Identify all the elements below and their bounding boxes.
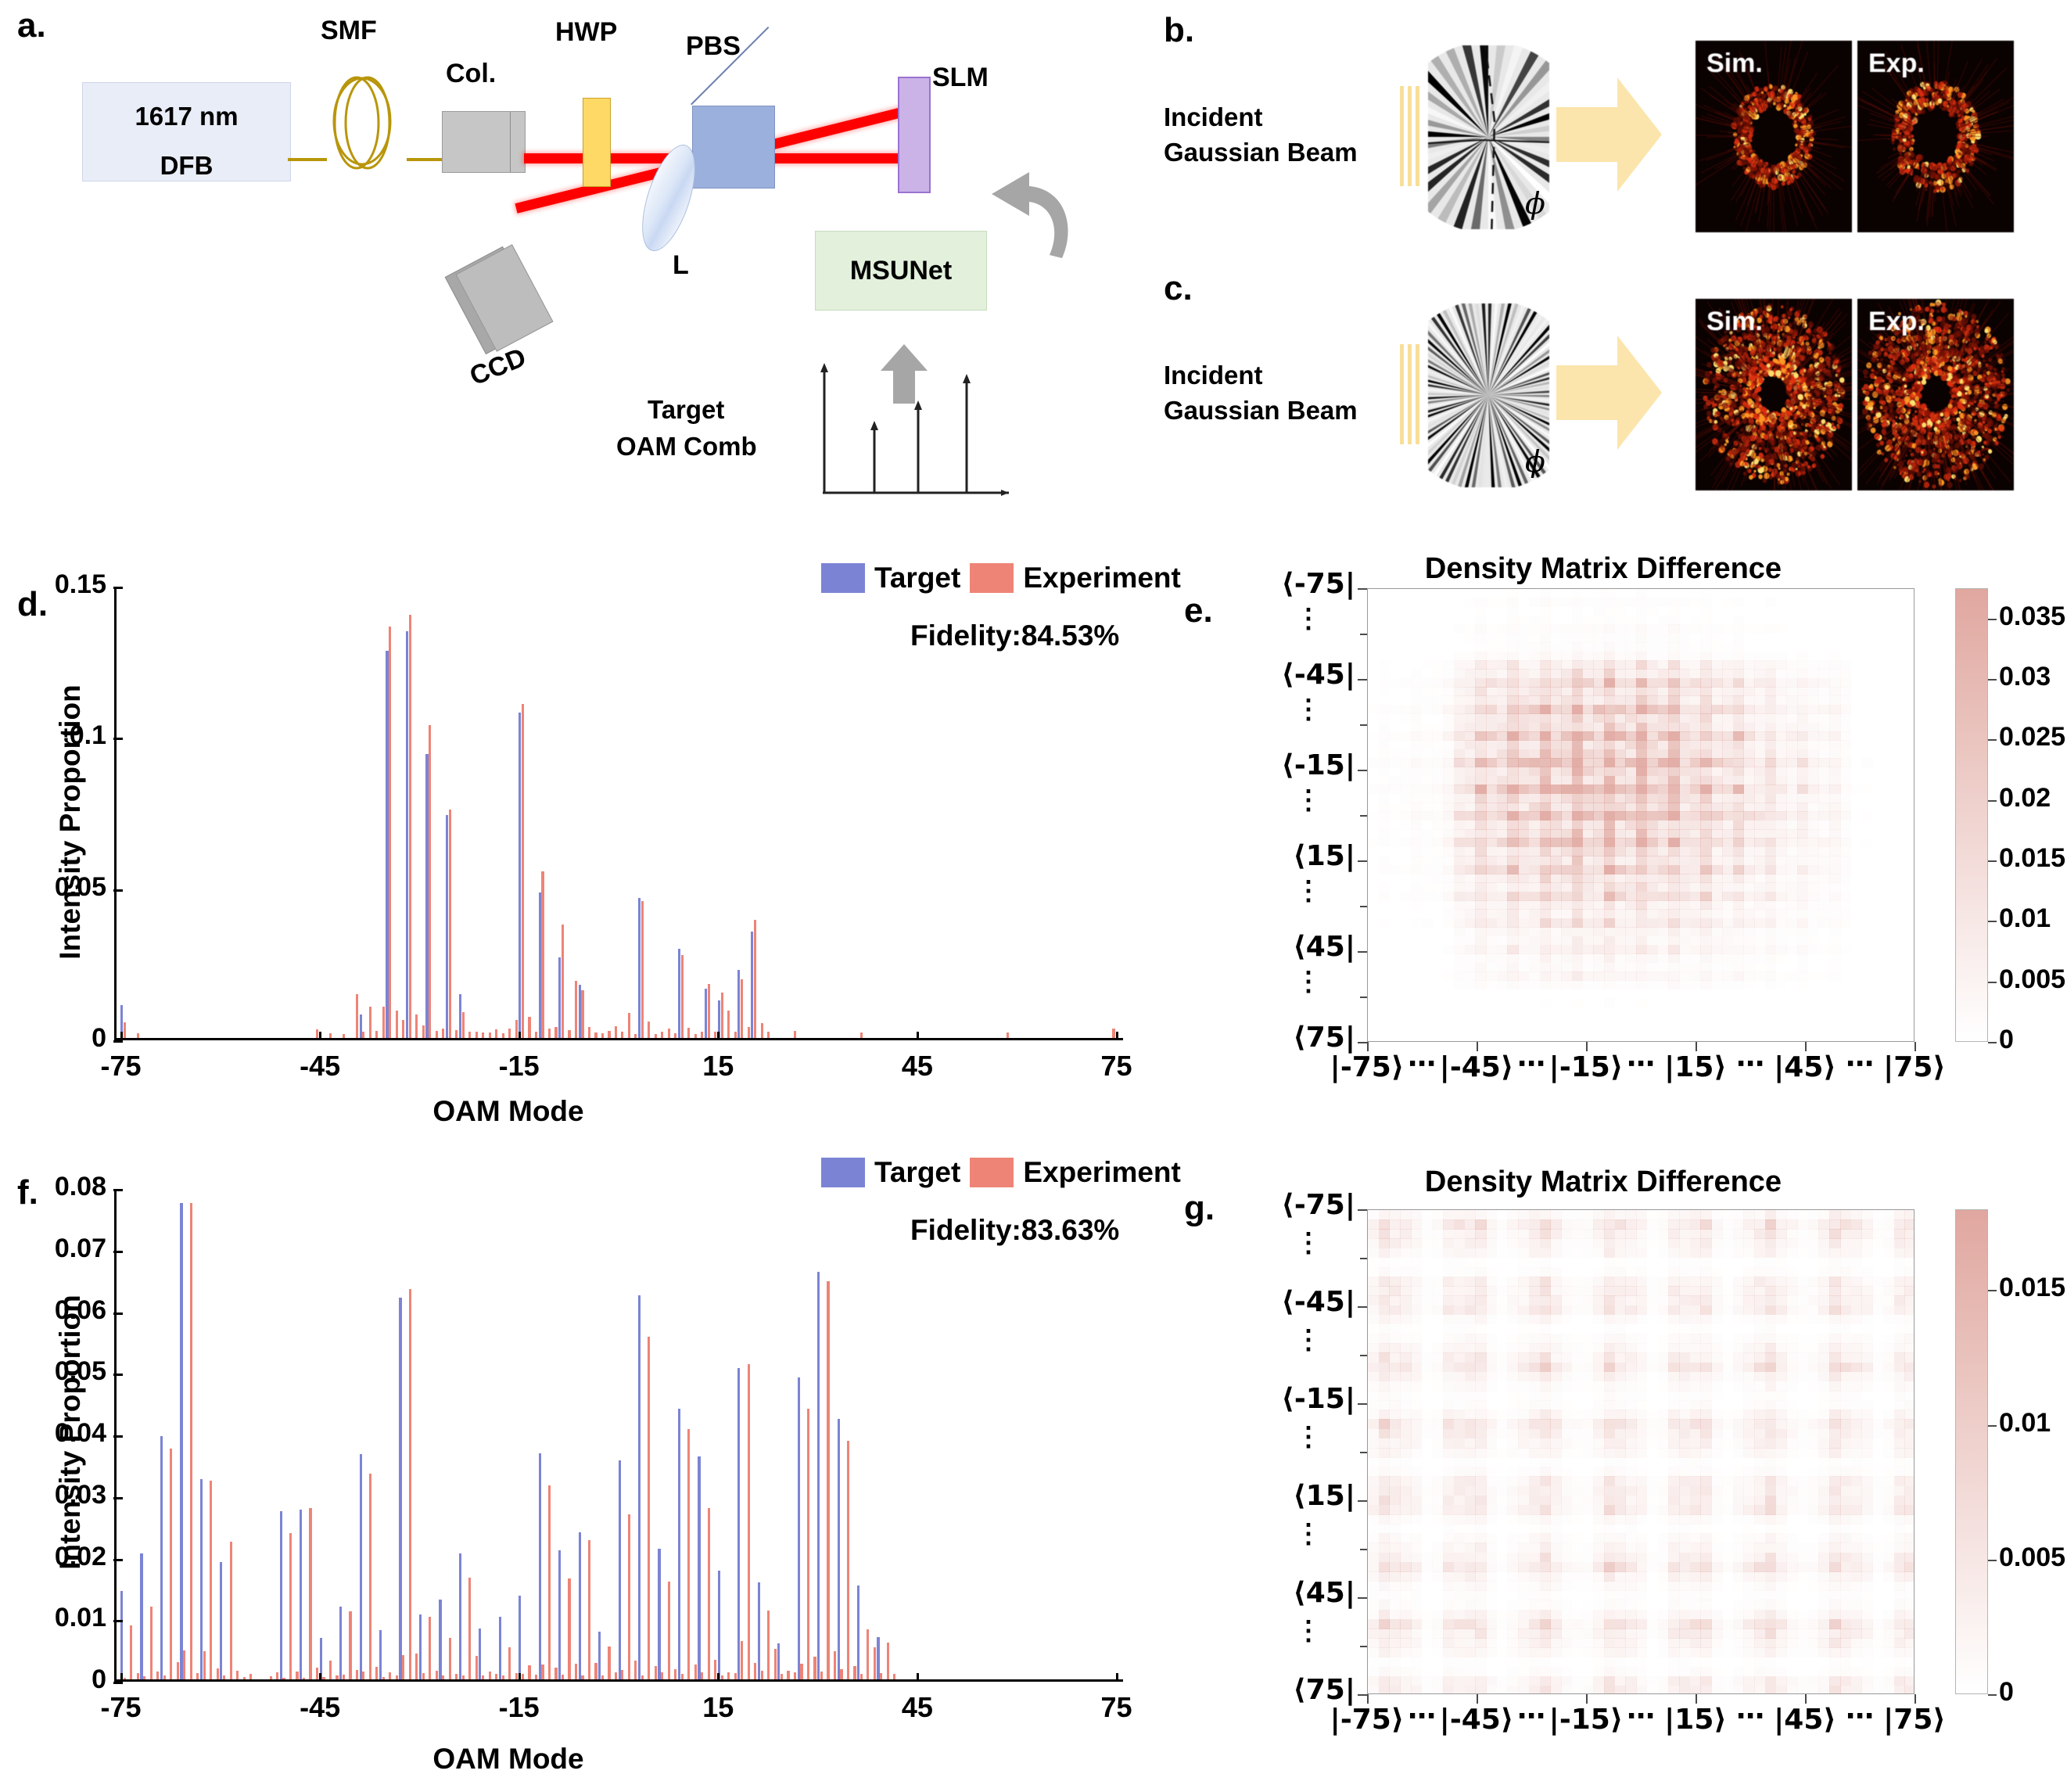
- collimator-label: Col.: [446, 59, 496, 89]
- bar-experiment: [402, 1020, 404, 1038]
- x-tick-label: -15: [465, 1691, 574, 1724]
- bar-experiment: [687, 1028, 690, 1038]
- matrix-x-tick-mark: [1914, 1694, 1916, 1704]
- x-tick-mark: [1116, 1673, 1118, 1682]
- bar-experiment: [548, 1485, 551, 1679]
- y-axis-label-d: Intensity Proportion: [54, 658, 87, 986]
- bar-experiment: [608, 1031, 610, 1038]
- colorbar-tick-label: 0.015: [1999, 1273, 2065, 1303]
- x-tick-label: 15: [663, 1050, 773, 1083]
- bar-experiment: [382, 1007, 385, 1038]
- matrix-y-tick-label: ⟨-15|: [1203, 749, 1355, 781]
- x-tick-label: 45: [863, 1050, 972, 1083]
- bar-experiment: [840, 1669, 842, 1679]
- dfb-type: DFB: [83, 149, 290, 181]
- panel-a-label: a.: [17, 6, 46, 45]
- y-tick-mark: [113, 1313, 123, 1315]
- y-tick-mark: [113, 1497, 123, 1499]
- y-tick-mark: [113, 1040, 123, 1043]
- ccd-sensor: [456, 244, 554, 351]
- bar-experiment: [422, 1025, 425, 1038]
- polarizing-beam-splitter: [692, 106, 775, 189]
- bar-experiment: [681, 1674, 684, 1679]
- bar-target: [120, 1591, 123, 1679]
- legend-d: Target Experiment: [821, 562, 1181, 594]
- bar-target: [459, 1553, 461, 1679]
- bar-experiment: [794, 1672, 796, 1679]
- bar-experiment: [276, 1672, 278, 1679]
- matrix-y-tick-mark-minor: [1360, 1355, 1367, 1356]
- matrix-x-tick-mark: [1477, 1694, 1478, 1704]
- bar-experiment: [721, 993, 723, 1038]
- exp-label-b: Exp.: [1868, 48, 1925, 79]
- bar-experiment: [382, 1677, 385, 1679]
- bar-target: [698, 1456, 700, 1679]
- x-tick-label: -15: [465, 1050, 574, 1083]
- panel-e-density-matrix: e. Density Matrix Difference ⟨-75|⋮⟨-45|…: [1173, 548, 2067, 1142]
- bar-experiment: [362, 1032, 364, 1039]
- bar-experiment: [581, 990, 583, 1038]
- matrix-y-tick-mark-minor: [1360, 1646, 1367, 1647]
- bar-target: [598, 1632, 601, 1679]
- colorbar-tick-label: 0.025: [1999, 722, 2065, 752]
- matrix-x-tick-mark: [1586, 1694, 1588, 1704]
- matrix-y-tick-mark-minor: [1360, 1549, 1367, 1550]
- bar-target: [360, 1454, 362, 1679]
- bar-target: [446, 815, 448, 1038]
- bar-experiment: [621, 1032, 623, 1039]
- bar-experiment: [774, 1649, 777, 1679]
- bar-experiment: [893, 1674, 895, 1679]
- colorbar-tick-label: 0: [1999, 1677, 2014, 1708]
- bar-experiment: [369, 1007, 371, 1038]
- x-tick-mark: [1116, 1032, 1118, 1040]
- x-tick-label: 75: [1062, 1050, 1172, 1083]
- colorbar-tick-label: 0.015: [1999, 843, 2065, 874]
- colorbar-tick-mark: [1988, 619, 1997, 620]
- bar-experiment: [541, 871, 544, 1038]
- bar-experiment: [449, 810, 451, 1038]
- bar-target: [579, 985, 581, 1038]
- bar-target: [300, 1510, 302, 1679]
- bar-experiment: [668, 1582, 670, 1679]
- bar-experiment: [800, 1664, 802, 1679]
- bar-experiment: [615, 1672, 617, 1679]
- colorbar-tick-mark: [1988, 1425, 1997, 1427]
- bar-experiment: [289, 1533, 292, 1679]
- bar-target: [360, 1015, 362, 1038]
- matrix-y-ellipsis: ⋮: [1295, 884, 1322, 899]
- msunet-box: MSUNet: [815, 231, 987, 311]
- legend-label-target-f: Target: [874, 1156, 960, 1189]
- bar-target: [817, 1272, 820, 1679]
- matrix-y-tick-label: ⟨45|: [1203, 1577, 1355, 1609]
- matrix-y-tick-mark: [1358, 1597, 1367, 1599]
- bar-experiment: [409, 615, 411, 1038]
- bar-experiment: [130, 1625, 132, 1679]
- bar-experiment: [554, 1027, 557, 1038]
- bar-target: [777, 1643, 780, 1679]
- bar-target: [705, 989, 707, 1038]
- y-tick-mark: [113, 1620, 123, 1622]
- bar-experiment: [396, 1675, 398, 1680]
- bar-experiment: [183, 1650, 185, 1679]
- bar-experiment: [548, 1029, 551, 1038]
- bar-target: [838, 1419, 840, 1679]
- bar-experiment: [701, 1032, 703, 1038]
- colorbar-tick-mark: [1988, 921, 1997, 922]
- bar-experiment: [389, 1672, 391, 1679]
- y-tick-mark: [113, 1682, 123, 1684]
- bar-experiment: [615, 1026, 617, 1038]
- bar-experiment: [502, 1675, 504, 1680]
- bar-experiment: [495, 1674, 497, 1679]
- x-tick-mark: [519, 1032, 521, 1040]
- matrix-y-tick-label: ⟨75|: [1203, 1674, 1355, 1706]
- y-tick-label: 0.07: [0, 1234, 106, 1264]
- bar-experiment: [356, 1670, 358, 1679]
- bar-target: [539, 1453, 541, 1679]
- bar-experiment: [482, 1675, 484, 1679]
- bar-experiment: [714, 1032, 716, 1038]
- bar-experiment: [170, 1449, 172, 1679]
- panel-c-label: c.: [1164, 269, 1193, 308]
- matrix-y-ellipsis: ⋮: [1295, 1624, 1322, 1639]
- bar-experiment: [1007, 1032, 1009, 1038]
- bar-target: [419, 1614, 422, 1679]
- bar-target: [519, 1596, 521, 1679]
- bar-target: [399, 1298, 401, 1679]
- bar-experiment: [694, 1665, 697, 1679]
- bar-experiment: [150, 1607, 153, 1679]
- bar-experiment: [648, 1022, 650, 1038]
- matrix-y-ellipsis: ⋮: [1295, 1527, 1322, 1542]
- y-tick-mark: [113, 1559, 123, 1561]
- bar-target: [499, 1617, 501, 1679]
- matrix-x-tick-mark: [1367, 1694, 1369, 1704]
- matrix-y-ellipsis: ⋮: [1295, 612, 1322, 627]
- panel-b-hologram-sparse: b. Incident Gaussian Beam ϕ Sim. Exp.: [1157, 8, 2067, 266]
- fidelity-annotation-f: Fidelity:83.63%: [910, 1214, 1119, 1247]
- bar-target: [220, 1562, 222, 1679]
- bar-target: [619, 1460, 621, 1679]
- bar-experiment: [475, 1656, 478, 1679]
- legend-label-experiment-d: Experiment: [1023, 562, 1181, 594]
- bar-experiment: [641, 901, 644, 1038]
- bar-experiment: [343, 1034, 345, 1038]
- panel-a-optical-setup: a. 1617 nm DFB SMF Col. HWP PBS SLM L CC…: [0, 0, 1157, 540]
- bar-experiment: [621, 1670, 623, 1679]
- bar-experiment: [853, 1666, 856, 1679]
- simulation-image-b: Sim.: [1696, 41, 1852, 232]
- bar-experiment: [468, 1578, 471, 1679]
- bar-target: [386, 651, 388, 1038]
- bar-experiment: [249, 1674, 252, 1679]
- matrix-y-tick-mark: [1358, 588, 1367, 590]
- bar-experiment: [641, 1675, 644, 1679]
- colorbar-tick-label: 0.02: [1999, 783, 2051, 813]
- bar-target: [200, 1479, 203, 1679]
- matrix-x-tick-mark: [1696, 1694, 1697, 1704]
- bar-experiment: [210, 1481, 212, 1679]
- x-tick-label: -45: [265, 1050, 375, 1083]
- bar-experiment: [462, 1012, 465, 1038]
- bar-experiment: [727, 1672, 730, 1679]
- bar-target: [658, 1549, 660, 1679]
- bar-experiment: [601, 1675, 604, 1679]
- bar-experiment: [734, 1673, 737, 1679]
- bar-experiment: [562, 1675, 564, 1679]
- matrix-x-tick-mark: [1805, 1694, 1807, 1704]
- msunet-label: MSUNet: [816, 232, 986, 310]
- matrix-y-tick-mark-minor: [1360, 1258, 1367, 1259]
- matrix-y-tick-label: ⟨-15|: [1203, 1383, 1355, 1415]
- matrix-y-tick-mark: [1358, 1042, 1367, 1043]
- bar-experiment: [223, 1675, 225, 1679]
- colorbar-tick-label: 0.005: [1999, 964, 2065, 995]
- bar-experiment: [594, 1032, 597, 1038]
- incident-slits-c: [1400, 344, 1423, 444]
- matrix-title-e: Density Matrix Difference: [1298, 552, 1908, 586]
- collimator-body: [442, 111, 526, 173]
- bar-target: [459, 994, 461, 1038]
- bar-experiment: [230, 1542, 232, 1679]
- colorbar-tick-label: 0.01: [1999, 1408, 2051, 1438]
- bar-experiment: [754, 1663, 756, 1679]
- matrix-x-tick-mark: [1914, 1042, 1916, 1051]
- bar-experiment: [727, 1011, 730, 1038]
- matrix-x-tick-mark: [1586, 1042, 1588, 1051]
- bar-experiment: [196, 1673, 199, 1679]
- bar-experiment: [820, 1672, 823, 1679]
- bar-experiment: [681, 955, 684, 1038]
- colorbar-g: [1955, 1209, 1988, 1694]
- matrix-y-tick-mark-minor: [1360, 724, 1367, 726]
- phi-symbol-b: ϕ: [1525, 186, 1545, 221]
- bar-experiment: [867, 1629, 869, 1679]
- bar-experiment: [270, 1676, 272, 1679]
- feedback-arrow-icon: [978, 171, 1071, 268]
- half-wave-plate: [583, 98, 611, 187]
- incident-beam-label-c: Incident Gaussian Beam: [1164, 358, 1358, 428]
- bar-experiment: [436, 1031, 438, 1038]
- bar-experiment: [429, 1617, 431, 1679]
- matrix-y-tick-label: ⟨45|: [1203, 931, 1355, 963]
- bar-experiment: [674, 1669, 676, 1679]
- x-tick-label: -45: [265, 1691, 375, 1724]
- bar-experiment: [489, 1032, 491, 1038]
- matrix-grid-g: [1367, 1209, 1914, 1694]
- colorbar-tick-mark: [1988, 1694, 1997, 1696]
- matrix-y-ellipsis: ⋮: [1295, 1236, 1322, 1251]
- bar-experiment: [236, 1671, 239, 1679]
- x-tick-mark: [917, 1032, 919, 1040]
- bar-experiment: [741, 979, 743, 1038]
- x-axis-label-f: OAM Mode: [313, 1743, 704, 1776]
- bar-experiment: [303, 1678, 305, 1679]
- bar-experiment: [316, 1668, 318, 1679]
- spatial-light-modulator: [898, 77, 931, 193]
- bar-experiment: [708, 984, 710, 1038]
- hwp-label: HWP: [555, 17, 617, 48]
- panel-b-label: b.: [1164, 11, 1194, 50]
- bar-experiment: [296, 1672, 298, 1679]
- bar-experiment: [535, 1032, 537, 1038]
- bar-experiment: [634, 1661, 637, 1679]
- bar-target: [539, 892, 541, 1038]
- colorbar-tick-mark: [1988, 739, 1997, 741]
- bar-experiment: [714, 1660, 716, 1679]
- dfb-laser-box: 1617 nm DFB: [82, 82, 291, 181]
- bar-target: [678, 949, 680, 1038]
- simulation-image-c: Sim.: [1696, 299, 1852, 490]
- y-tick-label: 0.08: [0, 1172, 106, 1202]
- y-tick-mark: [113, 587, 123, 589]
- bar-experiment: [515, 1673, 518, 1679]
- matrix-x-tick-mark: [1477, 1042, 1478, 1051]
- legend-swatch-experiment-f: [970, 1158, 1014, 1187]
- bar-experiment: [369, 1474, 371, 1679]
- y-tick-mark: [113, 1251, 123, 1253]
- comb-title-line1: Target: [648, 395, 724, 425]
- legend-label-target-d: Target: [874, 562, 960, 594]
- bar-target: [751, 932, 753, 1038]
- bar-experiment: [402, 1655, 404, 1680]
- bar-experiment: [489, 1672, 491, 1679]
- bar-experiment: [568, 1578, 570, 1679]
- bar-experiment: [415, 1654, 418, 1679]
- bar-target: [638, 898, 641, 1038]
- bar-experiment: [674, 1033, 676, 1038]
- bar-experiment: [655, 1666, 657, 1679]
- colorbar-tick-mark: [1988, 1560, 1997, 1561]
- bar-experiment: [362, 1672, 364, 1679]
- bar-target: [479, 1629, 481, 1679]
- bar-experiment: [455, 1674, 458, 1679]
- matrix-y-tick-mark: [1358, 1500, 1367, 1502]
- bar-experiment: [143, 1676, 145, 1679]
- matrix-x-tick-mark: [1696, 1042, 1697, 1051]
- matrix-y-tick-mark: [1358, 951, 1367, 953]
- matrix-y-tick-label: ⟨15|: [1203, 1480, 1355, 1512]
- colorbar-tick-mark: [1988, 800, 1997, 802]
- bar-experiment: [329, 1661, 332, 1679]
- bar-target: [379, 1630, 382, 1679]
- x-tick-mark: [120, 1673, 123, 1682]
- colorbar-tick-mark: [1988, 1042, 1997, 1043]
- legend-swatch-target-f: [821, 1158, 865, 1187]
- bar-experiment: [655, 1034, 657, 1038]
- bar-experiment: [455, 1030, 458, 1038]
- bar-target: [638, 1295, 641, 1679]
- matrix-y-tick-label: ⟨-75|: [1203, 1189, 1355, 1221]
- bar-experiment: [396, 1011, 398, 1038]
- bar-experiment: [761, 1671, 763, 1679]
- bar-experiment: [502, 1033, 504, 1038]
- bar-experiment: [203, 1651, 206, 1679]
- colorbar-tick-mark: [1988, 1290, 1997, 1291]
- bar-experiment: [827, 1281, 829, 1680]
- bar-target: [579, 1532, 581, 1679]
- y-tick-mark: [113, 889, 123, 892]
- plot-area-f: [114, 1189, 1123, 1682]
- bar-experiment: [375, 1031, 378, 1038]
- bar-experiment: [389, 627, 391, 1038]
- bar-experiment: [767, 1032, 770, 1038]
- bar-target: [718, 1571, 720, 1679]
- bar-experiment: [163, 1675, 166, 1679]
- matrix-y-tick-mark-minor: [1360, 997, 1367, 998]
- bar-experiment: [535, 1675, 537, 1679]
- bar-experiment: [156, 1672, 159, 1679]
- matrix-y-tick-mark-minor: [1360, 1452, 1367, 1453]
- bar-experiment: [648, 1337, 650, 1679]
- matrix-grid-e: [1367, 588, 1914, 1042]
- bar-target: [519, 713, 521, 1038]
- bar-target: [877, 1637, 879, 1679]
- bar-experiment: [794, 1031, 796, 1038]
- slm-label: SLM: [932, 63, 989, 93]
- colorbar-tick-label: 0: [1999, 1025, 2014, 1055]
- bar-experiment: [515, 1020, 518, 1038]
- bar-experiment: [748, 1364, 750, 1679]
- panel-c-hologram-dense: c. Incident Gaussian Beam ϕ Sim. Exp.: [1157, 266, 2067, 524]
- matrix-y-tick-mark-minor: [1360, 815, 1367, 817]
- bar-experiment: [661, 1032, 663, 1038]
- bar-experiment: [668, 1029, 670, 1038]
- bar-experiment: [761, 1023, 763, 1038]
- bar-experiment: [880, 1673, 882, 1679]
- colorbar-e: [1955, 588, 1988, 1042]
- x-tick-mark: [717, 1673, 720, 1682]
- matrix-y-tick-label: ⟨75|: [1203, 1022, 1355, 1054]
- bar-experiment: [243, 1677, 246, 1679]
- panel-d-chart: d. Intensity Proportion OAM Mode 00.050.…: [0, 548, 1173, 1142]
- matrix-y-ellipsis: ⋮: [1295, 1430, 1322, 1445]
- bar-target: [339, 1607, 342, 1679]
- legend-swatch-target-d: [821, 563, 865, 593]
- y-tick-label: 0.05: [0, 1356, 106, 1387]
- transform-arrow-c: [1556, 332, 1662, 454]
- bar-target: [798, 1377, 800, 1679]
- bar-experiment: [124, 1678, 126, 1679]
- bar-experiment: [661, 1672, 663, 1679]
- bar-experiment: [508, 1029, 511, 1038]
- bar-experiment: [309, 1508, 311, 1679]
- bar-experiment: [813, 1657, 816, 1679]
- bar-experiment: [177, 1662, 179, 1679]
- matrix-y-tick-label: ⟨-75|: [1203, 568, 1355, 600]
- bar-experiment: [137, 1033, 139, 1038]
- bar-experiment: [588, 1540, 590, 1679]
- bar-experiment: [834, 1651, 836, 1679]
- bar-experiment: [217, 1668, 219, 1679]
- legend-f: Target Experiment: [821, 1156, 1181, 1189]
- colorbar-tick-label: 0.035: [1999, 602, 2065, 632]
- comb-title-line2: OAM Comb: [616, 432, 757, 461]
- bar-target: [140, 1553, 142, 1679]
- bar-experiment: [581, 1675, 583, 1679]
- bar-experiment: [375, 1667, 378, 1679]
- matrix-y-tick-label: ⟨15|: [1203, 840, 1355, 872]
- y-tick-label: 0.1: [0, 720, 106, 751]
- bar-experiment: [528, 1665, 530, 1679]
- bar-target: [280, 1511, 282, 1679]
- bar-experiment: [482, 1032, 484, 1038]
- bar-target: [439, 1600, 441, 1679]
- bar-target: [160, 1436, 163, 1679]
- matrix-y-ellipsis: ⋮: [1295, 1333, 1322, 1348]
